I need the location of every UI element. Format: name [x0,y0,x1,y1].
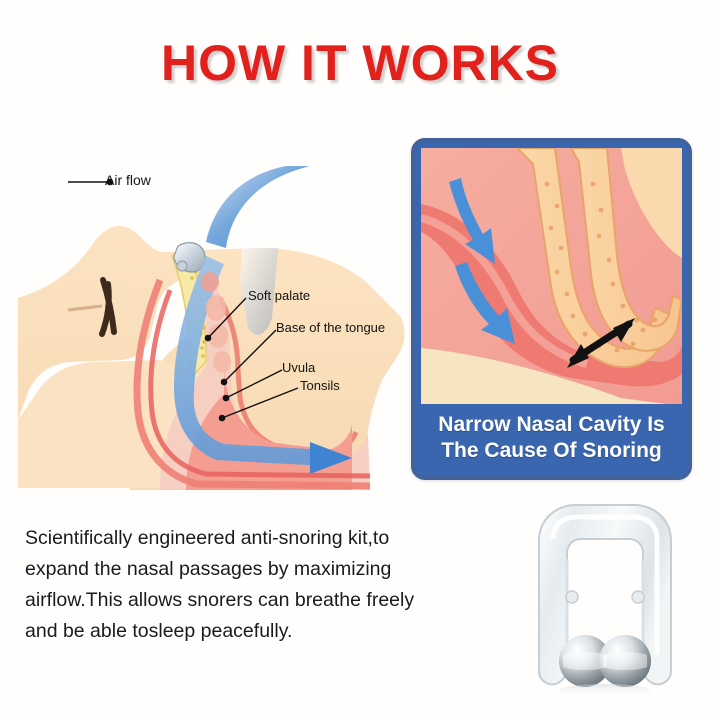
inner-nub-right-icon [632,591,644,603]
narrow-nasal-cavity-inset: Narrow Nasal Cavity Is The Cause Of Snor… [411,138,692,480]
inset-caption-line-1: Narrow Nasal Cavity Is [415,412,688,438]
page-title-container: HOW IT WORKS [0,38,720,88]
label-soft-palate: Soft palate [248,288,310,303]
nasal-cavity-svg [421,148,682,406]
magnet-balls [559,635,651,687]
description-line-2: expand the nasal passages by maximizing [25,554,485,585]
description-line-3: airflow.This allows snorers can breathe … [25,585,485,616]
product-image [505,495,705,695]
label-uvula: Uvula [282,360,315,375]
label-tonsils: Tonsils [300,378,340,393]
anatomy-svg [10,130,410,490]
page-title: HOW IT WORKS [161,38,559,88]
label-base-of-the-tongue: Base of the tongue [276,320,385,335]
description-line-4: and be able tosleep peacefully. [25,616,485,647]
label-air-flow: Air flow [105,172,151,188]
nose-clip-svg [505,495,705,695]
nasal-cavity-illustration [421,148,682,406]
inner-nub-left-icon [566,591,578,603]
inset-caption: Narrow Nasal Cavity Is The Cause Of Snor… [415,404,688,476]
nose-clip-device-icon [174,243,205,272]
anatomy-diagram: Air flow Soft palate Base of the tongue … [10,130,410,490]
airflow-band-icon [206,166,310,248]
inset-caption-line-2: The Cause Of Snoring [415,438,688,464]
description-line-1: Scientifically engineered anti-snoring k… [25,523,485,554]
reflection-shadow [559,684,651,695]
product-description: Scientifically engineered anti-snoring k… [25,523,485,647]
